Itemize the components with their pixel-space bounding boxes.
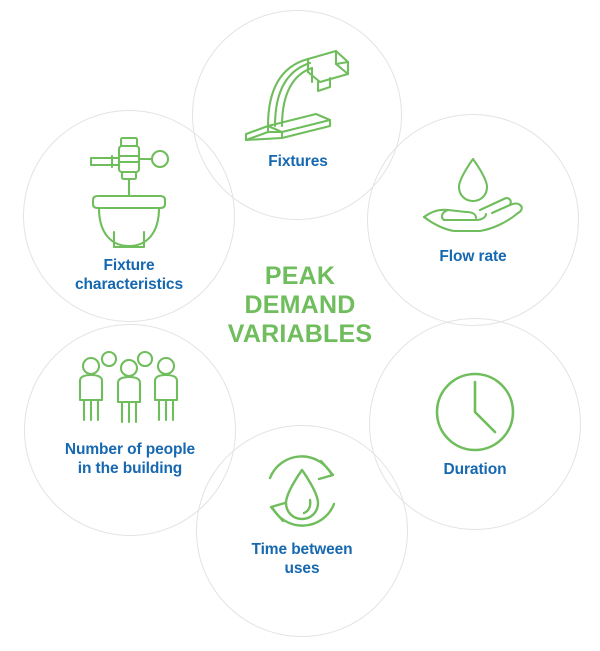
- node-label-line: Time between: [251, 541, 352, 558]
- node-time-between-uses[interactable]: Time between uses: [196, 448, 408, 651]
- node-label-line: Number of people: [65, 441, 195, 458]
- node-label-line: in the building: [78, 460, 182, 477]
- peak-demand-variables-infographic: PEAK DEMAND VARIABLES: [0, 0, 600, 651]
- node-label-line: Flow rate: [439, 248, 506, 265]
- node-label-fixtures: Fixtures: [264, 153, 332, 172]
- node-label-fixture-characteristics: Fixture characteristics: [71, 257, 187, 295]
- node-label-line: uses: [285, 560, 320, 577]
- group-of-people-icon: [24, 350, 236, 434]
- node-fixture-characteristics[interactable]: Fixture characteristics: [23, 128, 235, 340]
- node-label-number-of-people: Number of people in the building: [61, 441, 199, 479]
- node-label-line: characteristics: [75, 276, 183, 293]
- node-label-line: Duration: [444, 461, 507, 478]
- node-label-line: Fixture: [104, 257, 155, 274]
- node-label-duration: Duration: [440, 461, 511, 480]
- toilet-flush-valve-icon: [23, 128, 235, 250]
- hand-water-droplet-icon: [367, 155, 579, 241]
- node-label-time-between-uses: Time between uses: [247, 541, 356, 579]
- recycle-droplet-icon: [196, 448, 408, 534]
- node-label-flow-rate: Flow rate: [435, 248, 510, 267]
- clock-icon: [369, 370, 581, 454]
- node-flow-rate[interactable]: Flow rate: [367, 155, 579, 367]
- node-label-line: Fixtures: [268, 153, 328, 170]
